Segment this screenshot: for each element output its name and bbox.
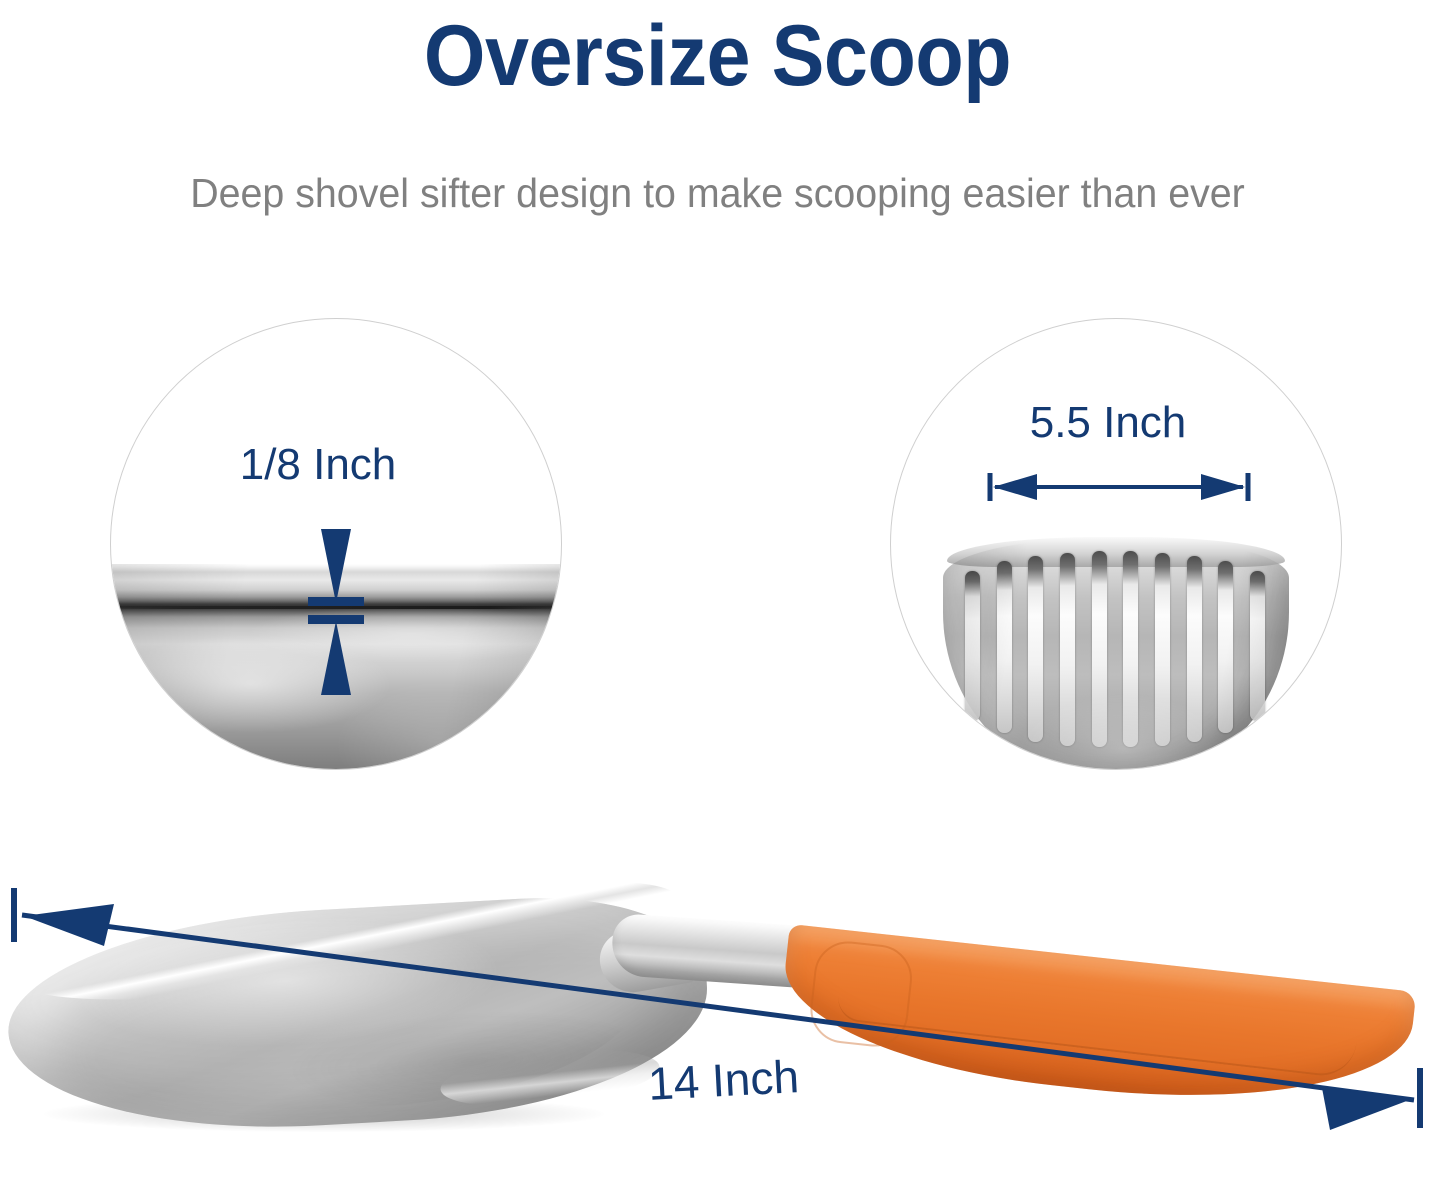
arrow-up-icon xyxy=(321,621,351,695)
scoop-slot xyxy=(1187,556,1202,742)
scoop-edge-seam-line xyxy=(111,606,561,609)
scoop-slot xyxy=(965,571,980,721)
overall-length-label: 14 Inch xyxy=(647,1049,801,1111)
scoop-bowl xyxy=(3,889,714,1143)
scoop-slot xyxy=(1123,551,1138,747)
callout-width: 5.5 Inch xyxy=(890,318,1342,770)
arrow-down-icon xyxy=(321,529,351,603)
scoop-slot xyxy=(1250,571,1265,721)
scoop-slot xyxy=(1028,556,1043,742)
infographic-page: Oversize Scoop Deep shovel sifter design… xyxy=(0,0,1435,1190)
header: Oversize Scoop Deep shovel sifter design… xyxy=(0,0,1435,240)
scoop-slot xyxy=(1155,553,1170,746)
callouts-row: 1/8 Inch 5.5 Inch xyxy=(0,318,1435,770)
double-arrow-horizontal-icon xyxy=(985,469,1253,505)
slotted-scoop-photo xyxy=(891,537,1341,770)
page-title: Oversize Scoop xyxy=(57,4,1377,108)
scoop-slot xyxy=(997,561,1012,733)
thickness-gap-bar-lower xyxy=(308,615,364,624)
thickness-gap-bar-upper xyxy=(308,597,364,606)
scoop-slot xyxy=(1092,551,1107,747)
thickness-measurement-label: 1/8 Inch xyxy=(110,439,543,491)
product-photo xyxy=(0,860,1435,1190)
callout-thickness: 1/8 Inch xyxy=(110,318,562,770)
scoop-slot xyxy=(1218,561,1233,733)
scoop-handle xyxy=(776,924,1417,1123)
scoop-slots-group xyxy=(965,551,1265,747)
width-measurement-label: 5.5 Inch xyxy=(890,397,1333,449)
scoop-slot xyxy=(1060,553,1075,746)
page-subtitle: Deep shovel sifter design to make scoopi… xyxy=(29,168,1407,218)
